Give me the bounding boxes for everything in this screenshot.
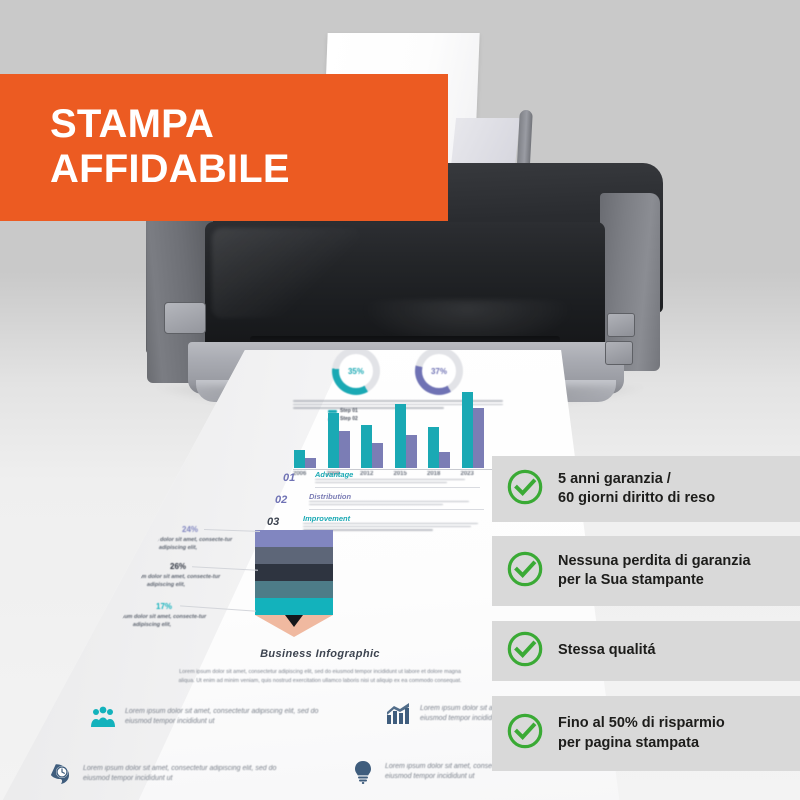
funnel-segment-3 — [255, 564, 333, 581]
funnel-leader-2 — [192, 566, 258, 570]
step-list-item: 01 Advantage — [265, 468, 495, 490]
funnel-leader-1 — [204, 529, 260, 532]
bar-step-01-2009 — [328, 413, 339, 468]
check-circle-icon — [506, 630, 544, 673]
bar-step-02-2012 — [372, 443, 383, 468]
bar-step-02-2018 — [439, 452, 450, 468]
infographic-feature-people-text: Lorem ipsum dolor sit amet, consectetur … — [125, 707, 330, 727]
funnel-segment-1 — [255, 530, 333, 547]
feature-box-warranty: 5 anni garanzia / 60 giorni diritto di r… — [492, 456, 800, 522]
bar-step-01-2012 — [361, 425, 372, 468]
step-name-distribution: Distribution — [309, 492, 351, 501]
funnel-segment-5 — [255, 598, 333, 615]
step-number-03: 03 — [267, 516, 279, 528]
funnel-segment-4 — [255, 581, 333, 598]
step-list: 01 Advantage 02 Distribution 03 Improvem… — [265, 468, 495, 538]
donut-chart-2: 37% — [415, 347, 463, 395]
drum-highlight — [212, 228, 362, 318]
donut-chart-1: 35% — [332, 347, 380, 395]
feature-box-same-quality: Stessa qualitá — [492, 621, 800, 681]
step-name-advantage: Advantage — [315, 470, 353, 479]
bar-step-01-2006 — [294, 450, 305, 468]
feature-box-warranty-text: 5 anni garanzia / 60 giorni diritto di r… — [558, 470, 715, 508]
bar-step-01-2015 — [395, 404, 406, 468]
bar-step-02-2009 — [339, 431, 350, 468]
step-name-improvement: Improvement — [303, 514, 350, 523]
pencil-tip-lead — [285, 615, 303, 627]
donut-chart-1-label: 35% — [339, 354, 373, 388]
lightbulb-icon — [350, 760, 376, 784]
promo-image: Banner Infographics 35% 37% Step 01 Step… — [0, 0, 800, 800]
feature-line-1: Stessa qualitá — [558, 641, 656, 660]
bar-step-01-2018 — [428, 427, 439, 468]
bar-step-02-2023 — [473, 408, 484, 468]
headline-line-1: STAMPA — [50, 102, 213, 146]
printer-button-right-top[interactable] — [607, 313, 635, 337]
feature-line-2: per pagina stampata — [558, 734, 725, 753]
funnel-percent-3: 17% — [156, 602, 172, 611]
feature-box-same-quality-text: Stessa qualitá — [558, 641, 656, 660]
infographic-feature-people: Lorem ipsum dolor sit amet, consectetur … — [90, 705, 330, 729]
check-circle-icon — [506, 468, 544, 511]
funnel-percent-2: 26% — [170, 562, 186, 571]
check-circle-icon — [506, 550, 544, 593]
infographic-feature-clock: Lorem ipsum dolor sit amet, consectetur … — [48, 762, 298, 786]
feature-box-no-warranty-loss: Nessuna perdita di garanzia per la Sua s… — [492, 536, 800, 606]
step-number-01: 01 — [283, 472, 295, 484]
feature-box-savings: Fino al 50% di risparmio per pagina stam… — [492, 696, 800, 771]
headline-text: STAMPA AFFIDABILE — [50, 102, 448, 192]
donut-chart-2-label: 37% — [422, 354, 456, 388]
bar-step-02-2015 — [406, 435, 417, 468]
printer-button-left[interactable] — [164, 302, 206, 334]
bar-step-02-2006 — [305, 458, 316, 468]
headline-banner: STAMPA AFFIDABILE — [0, 74, 448, 221]
growth-chart-icon — [385, 702, 411, 726]
feature-box-no-warranty-loss-text: Nessuna perdita di garanzia per la Sua s… — [558, 552, 751, 590]
check-circle-icon — [506, 712, 544, 755]
headline-line-2: AFFIDABILE — [50, 147, 290, 191]
people-icon — [90, 705, 116, 729]
feature-line-2: per la Sua stampante — [558, 571, 751, 590]
funnel-percent-1: 24% — [182, 525, 198, 534]
feature-box-savings-text: Fino al 50% di risparmio per pagina stam… — [558, 714, 725, 752]
funnel-leader-3 — [180, 605, 256, 611]
business-infographic-title: Business Infographic — [215, 648, 425, 660]
feature-line-1: 5 anni garanzia / — [558, 470, 715, 489]
feature-line-1: Fino al 50% di risparmio — [558, 714, 725, 733]
step-list-item: 02 Distribution — [265, 490, 495, 512]
feature-line-2: 60 giorni diritto di reso — [558, 489, 715, 508]
bar-step-01-2023 — [462, 392, 473, 468]
funnel-segment-2 — [255, 547, 333, 564]
bar-chart — [293, 390, 498, 468]
business-infographic-body: Lorem ipsum dolor sit amet, consectetur … — [175, 668, 465, 686]
infographic-feature-clock-text: Lorem ipsum dolor sit amet, consectetur … — [83, 764, 298, 784]
feature-line-1: Nessuna perdita di garanzia — [558, 552, 751, 571]
step-number-02: 02 — [275, 494, 287, 506]
